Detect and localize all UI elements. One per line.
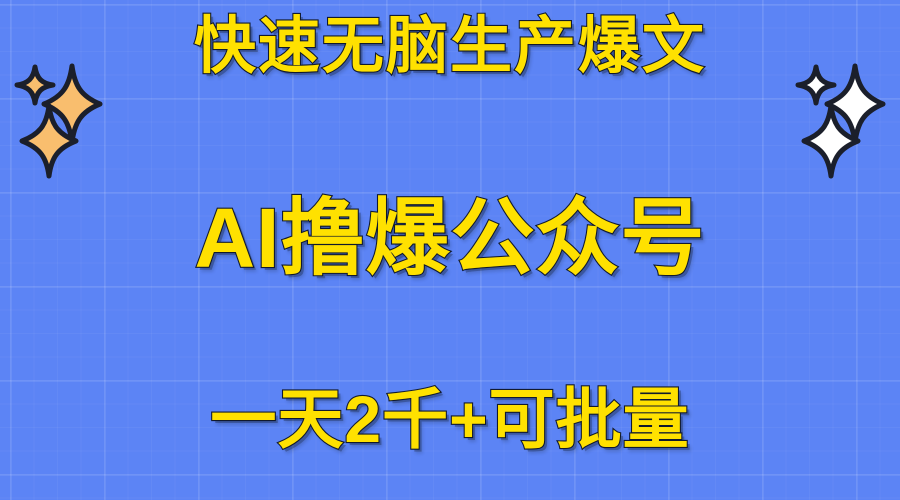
headline-bottom-line: 一天2千+可批量 [0, 386, 900, 452]
sparkle-medium-icon [19, 103, 79, 179]
poster-canvas: 快速无脑生产爆文 AI撸爆公众号 一天2千+可批量 [0, 0, 900, 500]
headline-main-title: AI撸爆公众号 [0, 196, 900, 280]
headline-top-line: 快速无脑生产爆文 [0, 16, 900, 78]
sparkle-medium-icon [801, 103, 861, 179]
